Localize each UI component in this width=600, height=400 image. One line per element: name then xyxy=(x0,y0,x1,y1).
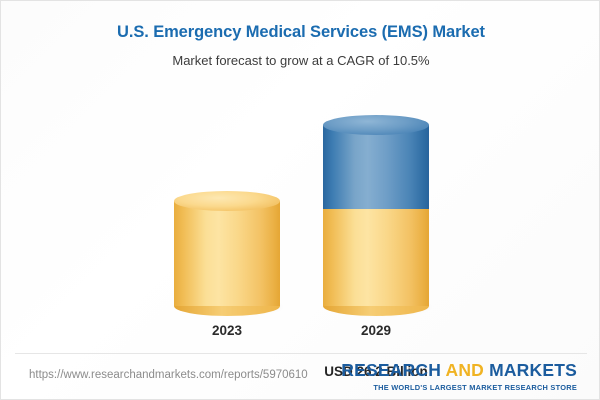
bar-segment-growth-2029 xyxy=(323,125,429,209)
brand-wordmark: RESEARCH AND MARKETS xyxy=(341,362,577,380)
brand-word-markets: MARKETS xyxy=(489,360,577,380)
cylinder-top-ellipse xyxy=(323,115,429,135)
category-label-2023: 2023 xyxy=(152,323,302,338)
brand-word-and: AND xyxy=(445,360,484,380)
cylinder-body xyxy=(323,125,429,209)
chart-subtitle: Market forecast to grow at a CAGR of 10.… xyxy=(1,53,600,68)
brand-logo[interactable]: RESEARCH AND MARKETS THE WORLD'S LARGEST… xyxy=(341,362,577,392)
bar-cylinder-2023[interactable] xyxy=(174,201,280,306)
page-title: U.S. Emergency Medical Services (EMS) Ma… xyxy=(1,23,600,42)
footer-divider xyxy=(15,353,587,354)
chart-canvas: U.S. Emergency Medical Services (EMS) Ma… xyxy=(0,0,600,400)
cylinder-top-ellipse xyxy=(174,191,280,211)
bar-segment-base-2029 xyxy=(323,209,429,306)
chart-plot-area: USD 14.43 Billion 2023 USD 26.2 Billion xyxy=(1,81,600,346)
brand-word-research: RESEARCH xyxy=(341,360,441,380)
bar-cylinder-2029[interactable] xyxy=(323,125,429,306)
brand-tagline: THE WORLD'S LARGEST MARKET RESEARCH STOR… xyxy=(341,383,577,392)
source-url-text[interactable]: https://www.researchandmarkets.com/repor… xyxy=(29,369,308,381)
bar-segment-base-2023 xyxy=(174,201,280,306)
cylinder-body xyxy=(323,209,429,306)
cylinder-body xyxy=(174,201,280,306)
category-label-2029: 2029 xyxy=(301,323,451,338)
